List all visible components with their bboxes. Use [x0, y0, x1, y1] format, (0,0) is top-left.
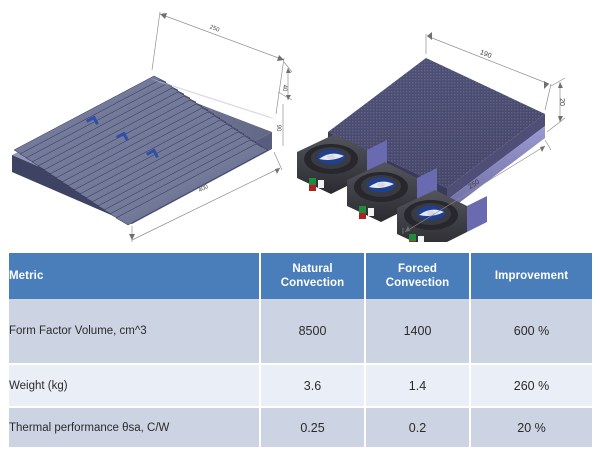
cell-metric: Weight (kg) [9, 365, 261, 408]
comparison-table: Metric Natural Convection Forced Convect… [9, 253, 592, 447]
cell-natural: 3.6 [261, 365, 366, 408]
heatsink-fins-left [14, 76, 276, 225]
column-header-natural-line2: Convection [281, 277, 345, 289]
dim-label-90: 90 [275, 125, 281, 132]
cell-forced: 1.4 [366, 365, 471, 408]
cell-metric: Thermal performance θsa, C/W [9, 408, 261, 447]
column-header-improvement: Improvement [471, 253, 592, 299]
table-row: Weight (kg) 3.6 1.4 260 % [9, 365, 592, 408]
table-body: Form Factor Volume, cm^3 8500 1400 600 %… [9, 299, 592, 447]
table-header-row: Metric Natural Convection Forced Convect… [9, 253, 592, 299]
column-header-forced-line1: Forced [398, 263, 437, 275]
cell-improvement: 260 % [471, 365, 592, 408]
cell-natural: 0.25 [261, 408, 366, 447]
column-header-forced-line2: Convection [386, 277, 450, 289]
cell-forced: 1400 [366, 299, 471, 365]
cell-natural: 8500 [261, 299, 366, 365]
column-header-natural-line1: Natural [292, 263, 332, 275]
table-header: Metric Natural Convection Forced Convect… [9, 253, 592, 299]
table-row: Form Factor Volume, cm^3 8500 1400 600 % [9, 299, 592, 365]
table-row: Thermal performance θsa, C/W 0.25 0.2 20… [9, 408, 592, 447]
column-header-forced-convection: Forced Convection [366, 253, 471, 299]
column-header-natural-convection: Natural Convection [261, 253, 366, 299]
dim-label-40: 40 [281, 85, 287, 92]
cell-metric: Form Factor Volume, cm^3 [9, 299, 261, 365]
cell-improvement: 20 % [471, 408, 592, 447]
cell-forced: 0.2 [366, 408, 471, 447]
dim-label-190: 190 [479, 49, 493, 60]
column-header-metric: Metric [9, 253, 261, 299]
forced-convection-heatsink-illustration: 190 20 250 [295, 22, 600, 242]
figure-root: 250 40 90 400 [0, 0, 600, 457]
dim-label-20: 20 [558, 98, 565, 106]
natural-convection-heatsink-illustration: 250 40 90 400 [0, 0, 300, 248]
cell-improvement: 600 % [471, 299, 592, 365]
